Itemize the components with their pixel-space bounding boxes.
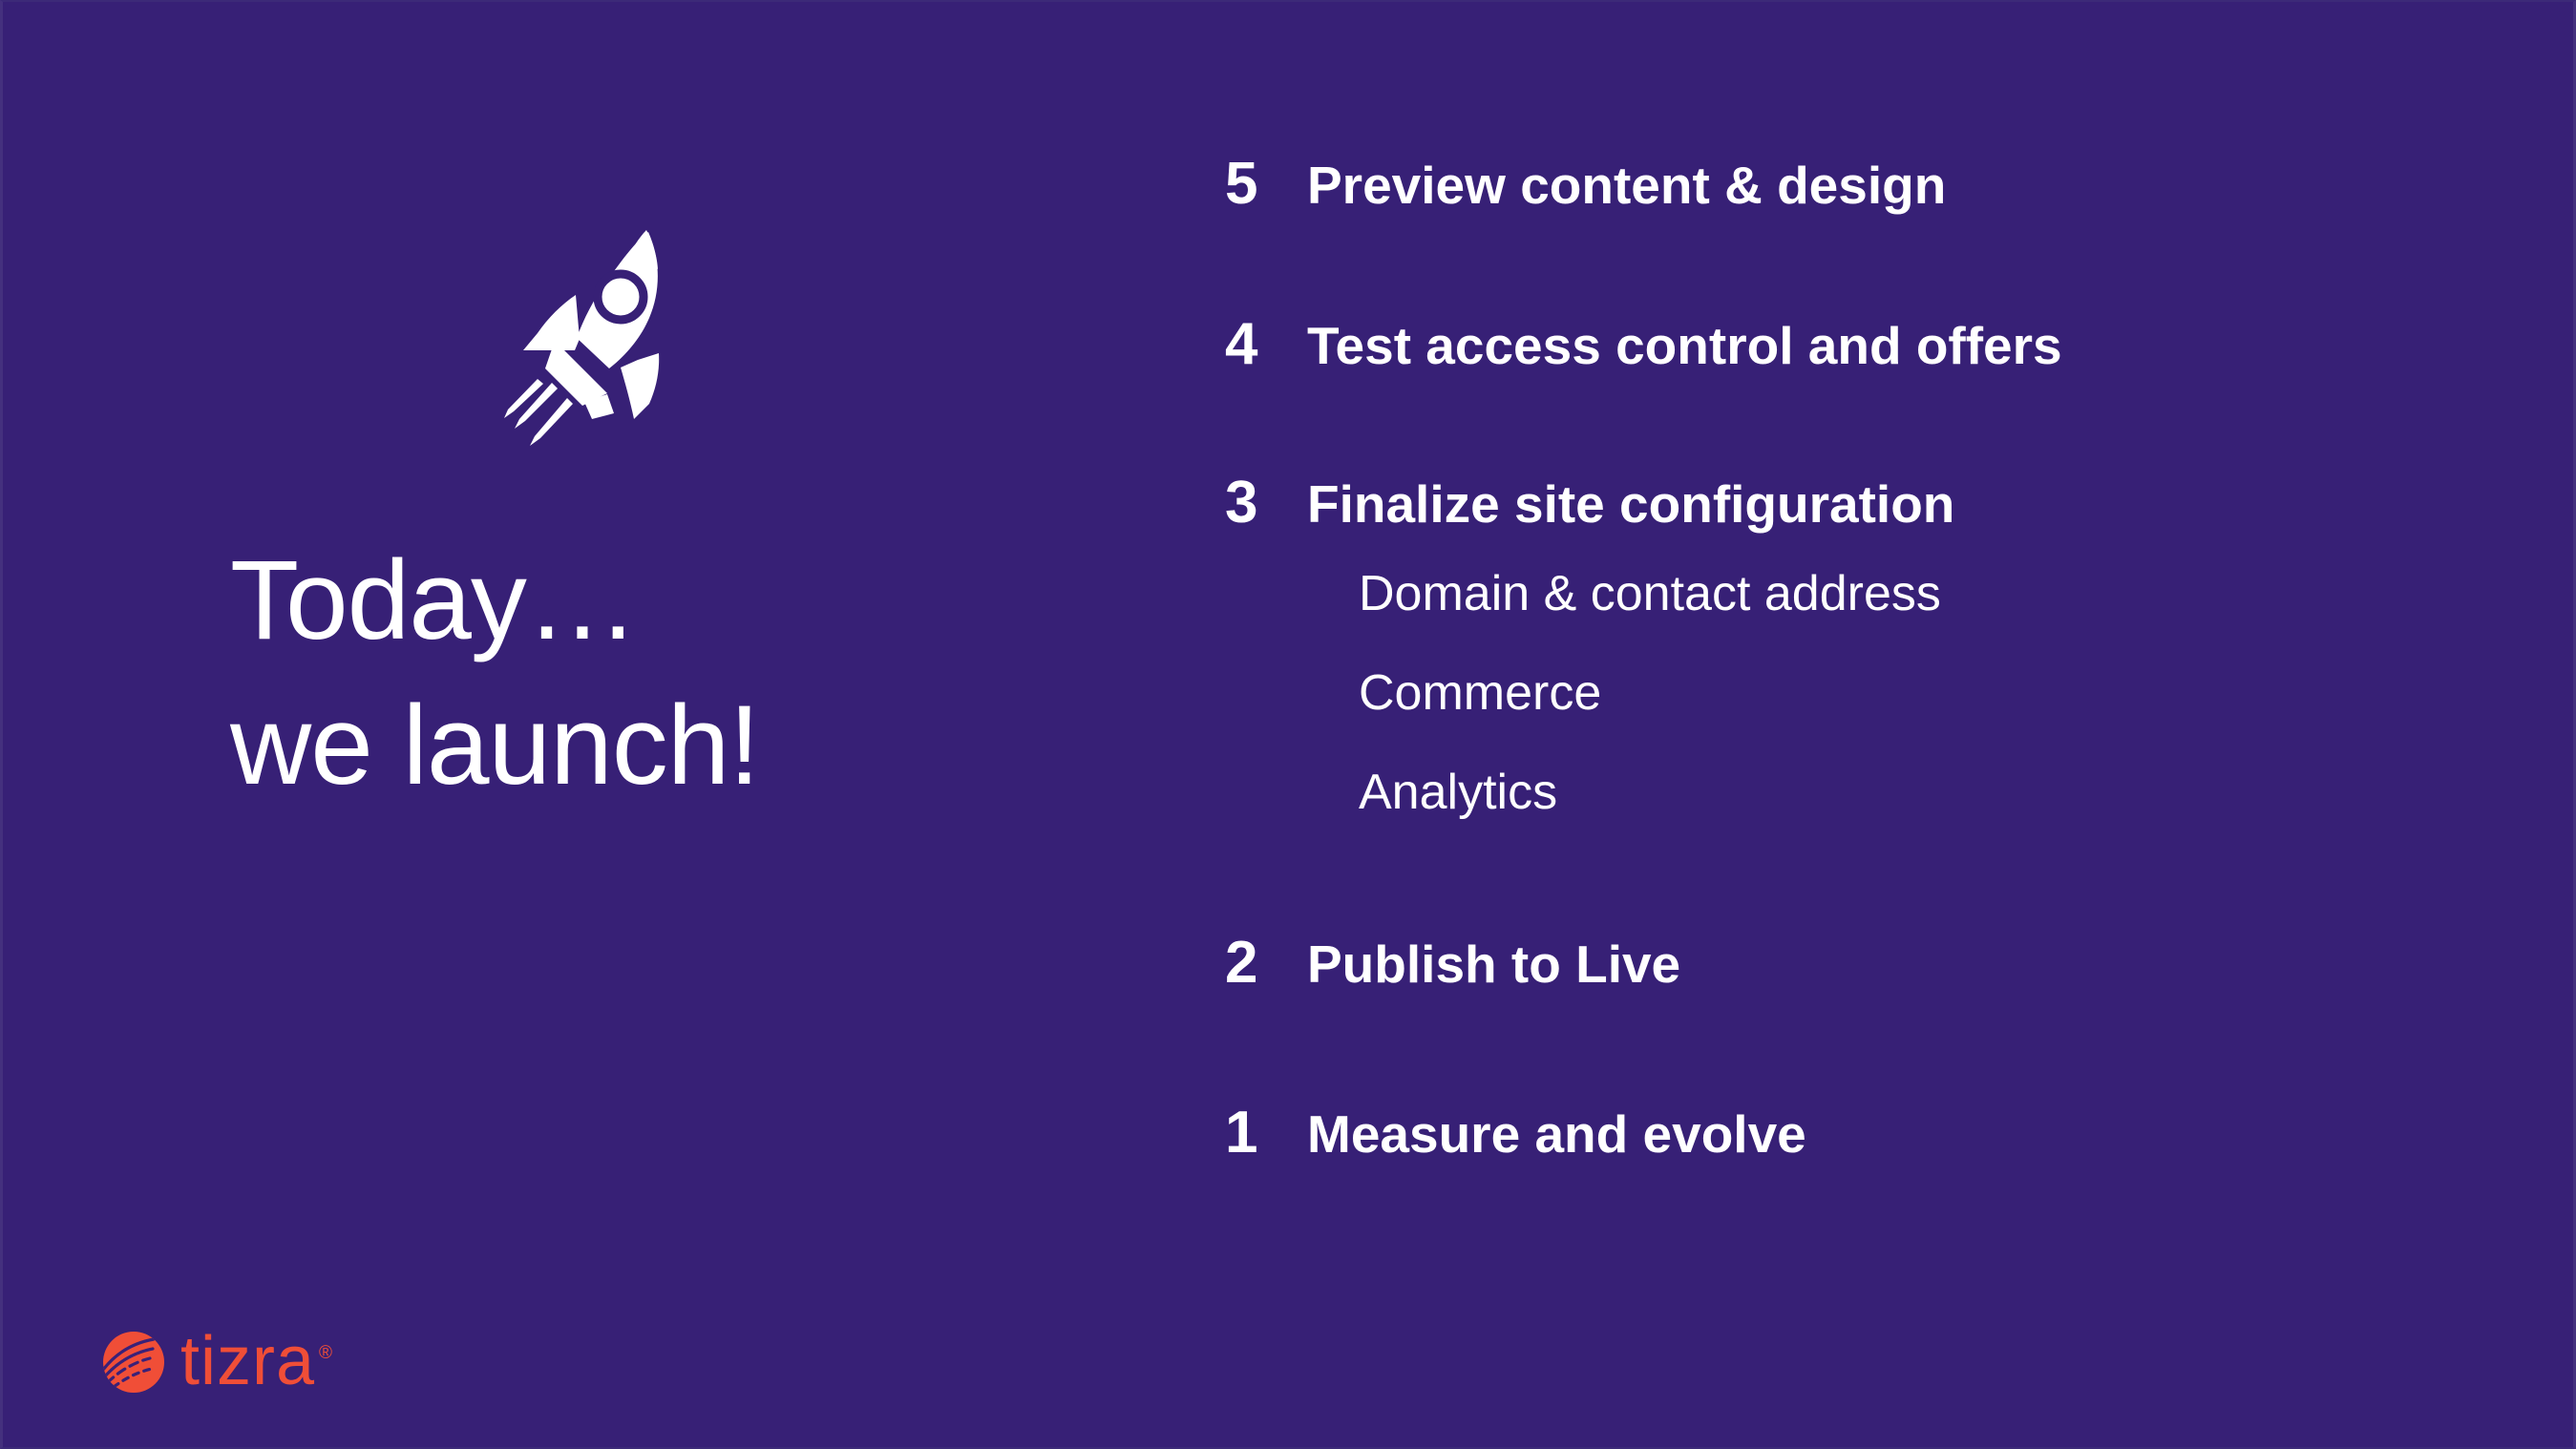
- list-item: Commerce: [1359, 668, 2543, 718]
- list-item: 3 Finalize site configuration: [1225, 473, 2543, 533]
- step-number: 1: [1225, 1103, 1275, 1163]
- list-item: 4 Test access control and offers: [1225, 315, 2543, 374]
- headline-line-1: Today…: [230, 544, 1089, 657]
- left-column: Today… we launch! tizra ®: [3, 2, 1130, 1447]
- registered-trademark-symbol: ®: [319, 1344, 333, 1362]
- headline-line-2: we launch!: [230, 689, 1089, 802]
- page-title: Today… we launch!: [230, 544, 1089, 802]
- spacer: [1225, 214, 2543, 315]
- launch-steps-list: 5 Preview content & design 4 Test access…: [1225, 155, 2543, 1163]
- step-number: 2: [1225, 934, 1275, 993]
- list-item: 2 Publish to Live: [1225, 934, 2543, 993]
- spacer: [1225, 817, 2543, 934]
- step-label: Measure and evolve: [1307, 1108, 1806, 1161]
- list-item: 5 Preview content & design: [1225, 155, 2543, 214]
- tizra-wordmark-text: tizra: [180, 1334, 315, 1390]
- step-label: Publish to Live: [1307, 938, 1680, 991]
- presentation-slide: Today… we launch! tizra ®: [0, 0, 2576, 1449]
- step-label: Test access control and offers: [1307, 320, 2062, 372]
- step-number: 4: [1225, 315, 1275, 374]
- rocket-icon: [485, 217, 724, 446]
- list-item: Analytics: [1359, 767, 2543, 817]
- tizra-wordmark: tizra ®: [180, 1334, 333, 1390]
- tizra-logo: tizra ®: [102, 1331, 333, 1394]
- substep-list: Domain & contact address Commerce Analyt…: [1225, 569, 2543, 817]
- step-number: 3: [1225, 473, 1275, 533]
- step-label: Preview content & design: [1307, 159, 1946, 212]
- step-label: Finalize site configuration: [1307, 478, 1954, 531]
- list-item: Domain & contact address: [1359, 569, 2543, 619]
- step-number: 5: [1225, 155, 1275, 214]
- list-item: 1 Measure and evolve: [1225, 1103, 2543, 1163]
- spacer: [1225, 993, 2543, 1103]
- spacer: [1225, 374, 2543, 473]
- tizra-planet-icon: [102, 1331, 165, 1394]
